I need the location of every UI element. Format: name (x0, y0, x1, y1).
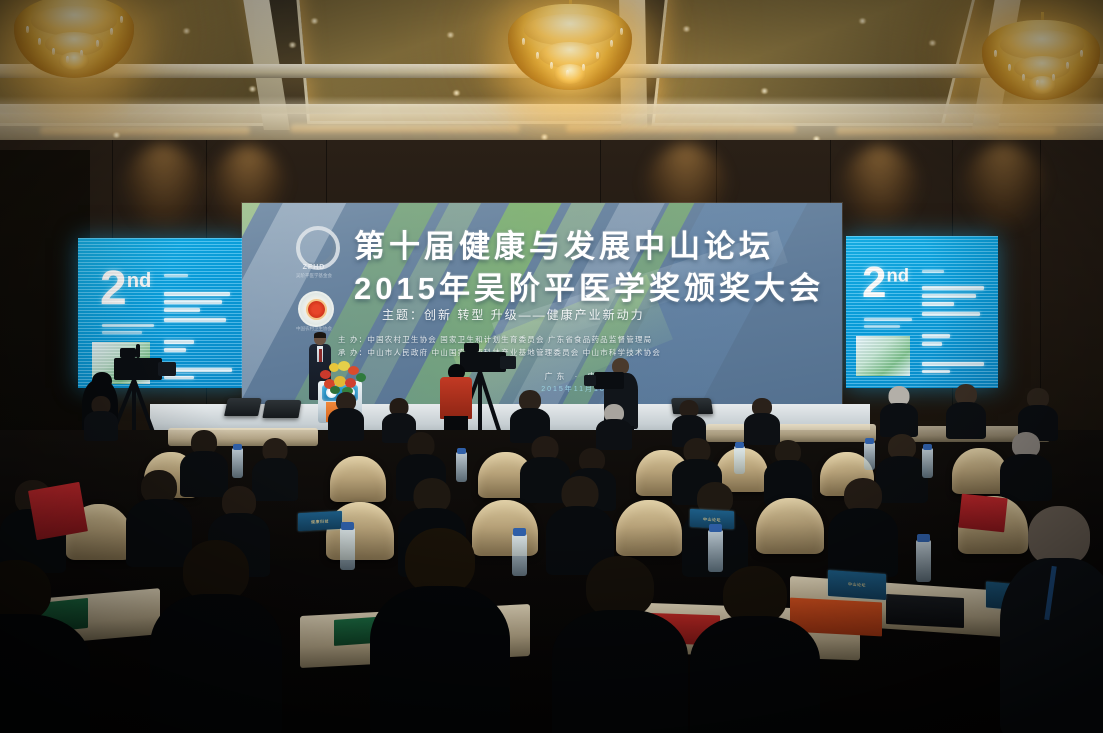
bottle-cap (513, 528, 526, 536)
banner-subtitle: 主题：创新 转型 升级——健康产业新动力 (382, 306, 822, 323)
head (586, 556, 654, 618)
delegate-name-placard: 中山论坛 (828, 570, 886, 600)
bottle-cap (457, 448, 466, 454)
torso (690, 616, 820, 733)
bottle-cap (865, 438, 874, 444)
head (183, 540, 249, 602)
ceiling (0, 0, 1103, 152)
recessed-downlight-icon (446, 32, 455, 38)
audience-member-foreground (0, 560, 90, 733)
chandelier-crystals (978, 12, 1103, 130)
bottle-cap (923, 444, 932, 450)
shoulder-camera-body (594, 372, 624, 389)
chandelier-crystals (500, 0, 640, 120)
audience-member-foreground (690, 566, 820, 733)
led-left-headline: 2nd (100, 268, 151, 309)
bottle-cap (341, 522, 354, 530)
water-bottle (340, 528, 355, 570)
head (405, 528, 475, 594)
torso (552, 610, 688, 733)
video-camera-body (114, 358, 162, 380)
audience-member (1000, 432, 1052, 500)
wall-light-pool (118, 144, 208, 230)
recessed-downlight-icon (182, 28, 191, 34)
video-camera-lens (500, 356, 516, 369)
water-bottle (864, 442, 875, 470)
banquet-chair (330, 456, 386, 502)
bottle-cap (709, 524, 722, 532)
banner-organizer-line-1: 主 办：中国农村卫生协会 国家卫生和计划生育委员会 广东省食品药品监督管理局 (338, 334, 838, 345)
camera-viewfinder (464, 343, 479, 352)
audience-member-foreground (1000, 506, 1103, 733)
banner-title-line-1: 第十届健康与发展中山论坛 (354, 221, 834, 266)
led-right-headline: 2nd (862, 264, 909, 302)
program-folder (28, 482, 88, 540)
wall-left-dark-panel (0, 150, 90, 440)
audience-member (510, 390, 550, 442)
stage-floor-monitor (224, 398, 262, 416)
chandelier-center (500, 0, 640, 120)
torso (0, 614, 90, 733)
foundation-logo-text: ZFHD (288, 264, 340, 271)
recessed-downlight-icon (858, 18, 867, 24)
torso (84, 411, 118, 441)
wall-light-pool (836, 146, 924, 228)
audience-member (596, 404, 632, 448)
audience-member-foreground (370, 528, 510, 733)
torso (328, 408, 364, 441)
led-right-thumbnail (856, 336, 910, 376)
recessed-downlight-icon (682, 26, 691, 32)
bottle-cap (735, 442, 744, 448)
camera-viewfinder (120, 348, 136, 358)
water-bottle (734, 446, 745, 474)
recessed-downlight-icon (310, 18, 319, 24)
head (1028, 506, 1090, 566)
banner-organizer-line-2: 承 办：中山市人民政府 中山国家健康科技产业基地管理委员会 中山市科学技术协会 (338, 347, 838, 358)
stage-floor-monitor (262, 400, 301, 418)
recessed-downlight-icon (928, 40, 937, 46)
program-folder (886, 594, 964, 628)
delegate-name-placard: 健康科技 (298, 511, 342, 531)
recessed-downlight-icon (112, 132, 121, 138)
water-bottle (232, 448, 243, 478)
audience-member (880, 386, 918, 436)
chandelier-right (978, 12, 1103, 130)
recessed-downlight-icon (288, 42, 297, 48)
head (0, 560, 51, 622)
torso (828, 508, 898, 577)
banquet-chair (756, 498, 824, 554)
audience-member (946, 384, 986, 438)
bottle-cap (917, 534, 930, 542)
torso (596, 419, 632, 450)
recessed-downlight-icon (248, 86, 257, 92)
crew-red-jacket (440, 377, 472, 419)
foundation-logo-subtitle: 吴阶平医学基金会 (278, 273, 350, 279)
recessed-downlight-icon (452, 90, 461, 96)
audience-member-foreground (150, 540, 282, 733)
torso (880, 403, 918, 437)
camera-mic (136, 344, 140, 358)
banquet-chair (616, 500, 682, 556)
crew-head-left (92, 372, 112, 390)
shoulder-camera-lens (584, 375, 596, 386)
chandelier-crystals (8, 0, 140, 106)
audience-member (84, 396, 118, 440)
banner-title-line-2: 2015年吴阶平医学奖颁奖大会 (354, 263, 834, 308)
audience-member (328, 392, 364, 440)
water-bottle (922, 448, 933, 478)
chandelier-left (8, 0, 140, 106)
torso (370, 586, 510, 733)
audience-member-foreground (552, 556, 688, 733)
association-emblem-icon (298, 291, 334, 327)
floral-arrangement (316, 360, 368, 394)
conference-hall-photo: 2nd 2nd (0, 0, 1103, 733)
recessed-downlight-icon (760, 88, 769, 94)
placard-text: 中山论坛 (828, 580, 886, 590)
video-camera-lens (158, 362, 176, 376)
audience-member (764, 440, 812, 504)
water-bottle (512, 534, 527, 576)
water-bottle (916, 540, 931, 582)
torso (150, 594, 282, 733)
bottle-cap (233, 444, 242, 450)
audience-member (828, 478, 898, 576)
torso (1000, 454, 1052, 501)
placard-text: 健康科技 (298, 518, 342, 526)
led-screen-right: 2nd (846, 236, 998, 388)
audience-member (744, 398, 780, 444)
wall-light-pool (958, 144, 1050, 228)
torso (946, 402, 986, 439)
